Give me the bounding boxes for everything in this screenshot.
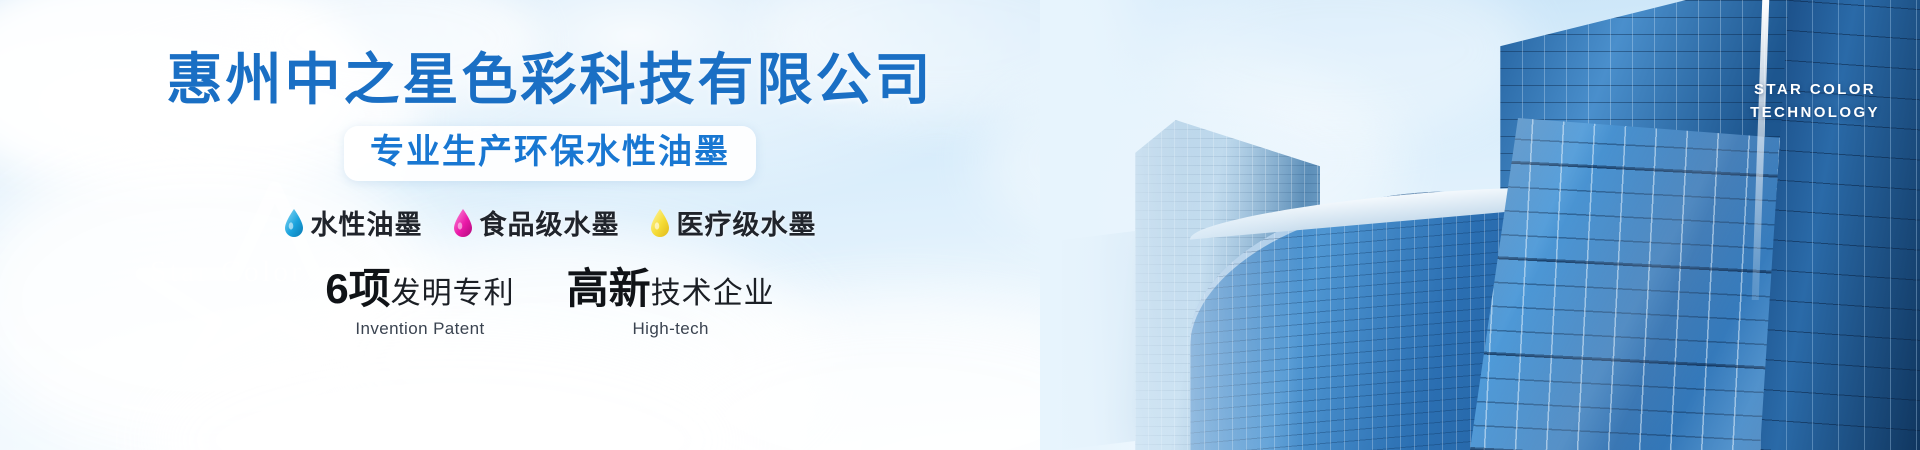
feature-list: 水性油墨 食品级水墨 xyxy=(284,203,817,242)
subtitle-pill: 专业生产环保水性油墨 xyxy=(344,126,756,181)
badge-strong-text: 6项 xyxy=(325,268,390,310)
photo-caption-line-1: STAR COLOR xyxy=(1730,78,1900,101)
badge-list: 6项 发明专利 Invention Patent 高新 技术企业 High-te… xyxy=(325,268,774,339)
badge-main-line: 6项 发明专利 xyxy=(325,268,514,310)
promo-banner: Star Color STAR COLOR TECHNOLOGY 惠州中之星色彩… xyxy=(0,0,1920,450)
badge-rest-text: 技术企业 xyxy=(651,279,775,309)
badge-invention-patent: 6项 发明专利 Invention Patent xyxy=(325,268,514,339)
badge-rest-text: 发明专利 xyxy=(391,279,515,309)
badge-english-text: Invention Patent xyxy=(355,319,484,339)
feature-item: 水性油墨 xyxy=(284,203,423,242)
feature-item: 食品级水墨 xyxy=(453,203,620,242)
feature-label: 医疗级水墨 xyxy=(677,203,817,242)
badge-high-tech: 高新 技术企业 High-tech xyxy=(567,268,775,339)
badge-english-text: High-tech xyxy=(633,319,709,339)
water-drop-icon xyxy=(650,209,670,237)
feature-label: 水性油墨 xyxy=(311,203,423,242)
badge-strong-text: 高新 xyxy=(567,268,651,310)
banner-content: 惠州中之星色彩科技有限公司 专业生产环保水性油墨 水性油墨 xyxy=(0,0,1100,450)
feature-label: 食品级水墨 xyxy=(480,203,620,242)
photo-caption: STAR COLOR TECHNOLOGY xyxy=(1730,78,1900,125)
skyscraper-photo: STAR COLOR TECHNOLOGY xyxy=(1040,0,1920,450)
feature-item: 医疗级水墨 xyxy=(650,203,817,242)
water-drop-icon xyxy=(284,209,304,237)
banner-subtitle: 专业生产环保水性油墨 xyxy=(370,133,730,172)
water-drop-icon xyxy=(453,209,473,237)
photo-caption-line-2: TECHNOLOGY xyxy=(1730,101,1900,124)
company-title: 惠州中之星色彩科技有限公司 xyxy=(167,52,934,108)
badge-main-line: 高新 技术企业 xyxy=(567,268,775,310)
